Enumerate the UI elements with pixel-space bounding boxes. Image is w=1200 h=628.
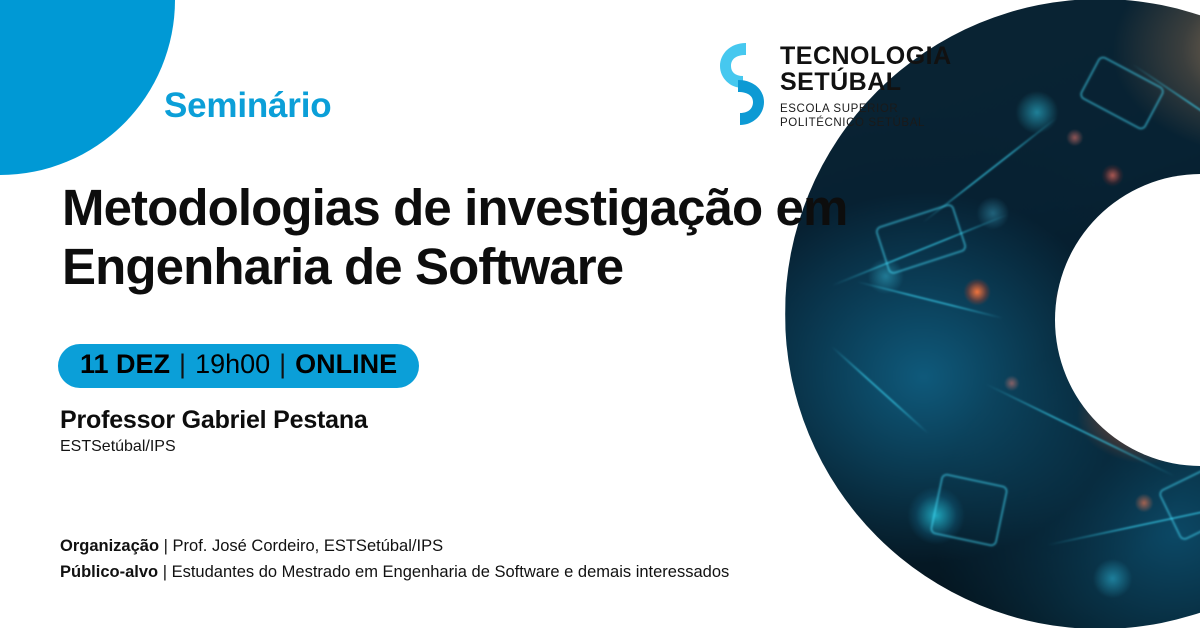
circuit-trace xyxy=(857,281,1003,319)
speaker-name: Professor Gabriel Pestana xyxy=(60,406,368,435)
badge-separator: | xyxy=(279,350,286,380)
footer-row: Público-alvo | Estudantes do Mestrado em… xyxy=(60,560,729,586)
seminar-poster: TECNOLOGIA SETÚBAL ESCOLA SUPERIOR POLIT… xyxy=(0,0,1200,628)
circuit-trace xyxy=(922,117,1057,223)
footer-value: Estudantes do Mestrado em Engenharia de … xyxy=(172,563,730,581)
footer-separator: | xyxy=(164,537,168,555)
circuit-node xyxy=(1157,452,1200,542)
blue-corner-circle xyxy=(0,0,175,175)
event-kicker: Seminário xyxy=(164,86,331,126)
speaker-affiliation: ESTSetúbal/IPS xyxy=(60,438,176,456)
logo-subtitle: ESCOLA SUPERIOR POLITÉCNICO SETÚBAL xyxy=(780,102,952,131)
circuit-node xyxy=(874,203,967,276)
institution-logo: TECNOLOGIA SETÚBAL ESCOLA SUPERIOR POLIT… xyxy=(716,38,952,131)
footer-value: Prof. José Cordeiro, ESTSetúbal/IPS xyxy=(173,537,444,555)
event-mode: ONLINE xyxy=(295,350,397,380)
badge-separator: | xyxy=(179,350,186,380)
page-title: Metodologias de investigação em Engenhar… xyxy=(62,178,872,296)
event-time: 19h00 xyxy=(195,350,270,380)
tecnologia-setubal-logo-mark-icon xyxy=(716,38,768,130)
footer-label: Organização xyxy=(60,537,159,555)
circuit-trace xyxy=(985,383,1175,477)
footer-meta: Organização | Prof. José Cordeiro, ESTSe… xyxy=(60,534,729,585)
logo-wordmark: TECNOLOGIA SETÚBAL ESCOLA SUPERIOR POLIT… xyxy=(780,38,952,131)
circuit-trace xyxy=(1047,494,1200,546)
footer-separator: | xyxy=(163,563,167,581)
logo-title: TECNOLOGIA SETÚBAL xyxy=(780,44,952,95)
ring-inner-cutout xyxy=(1055,174,1200,466)
circuit-node xyxy=(1078,54,1166,131)
circuit-node xyxy=(929,473,1008,548)
circuit-trace xyxy=(831,346,929,434)
footer-label: Público-alvo xyxy=(60,563,158,581)
event-details-badge: 11 DEZ | 19h00 | ONLINE xyxy=(58,344,419,388)
circuit-trace xyxy=(1132,63,1200,176)
footer-row: Organização | Prof. José Cordeiro, ESTSe… xyxy=(60,534,729,560)
event-date: 11 DEZ xyxy=(80,350,170,380)
